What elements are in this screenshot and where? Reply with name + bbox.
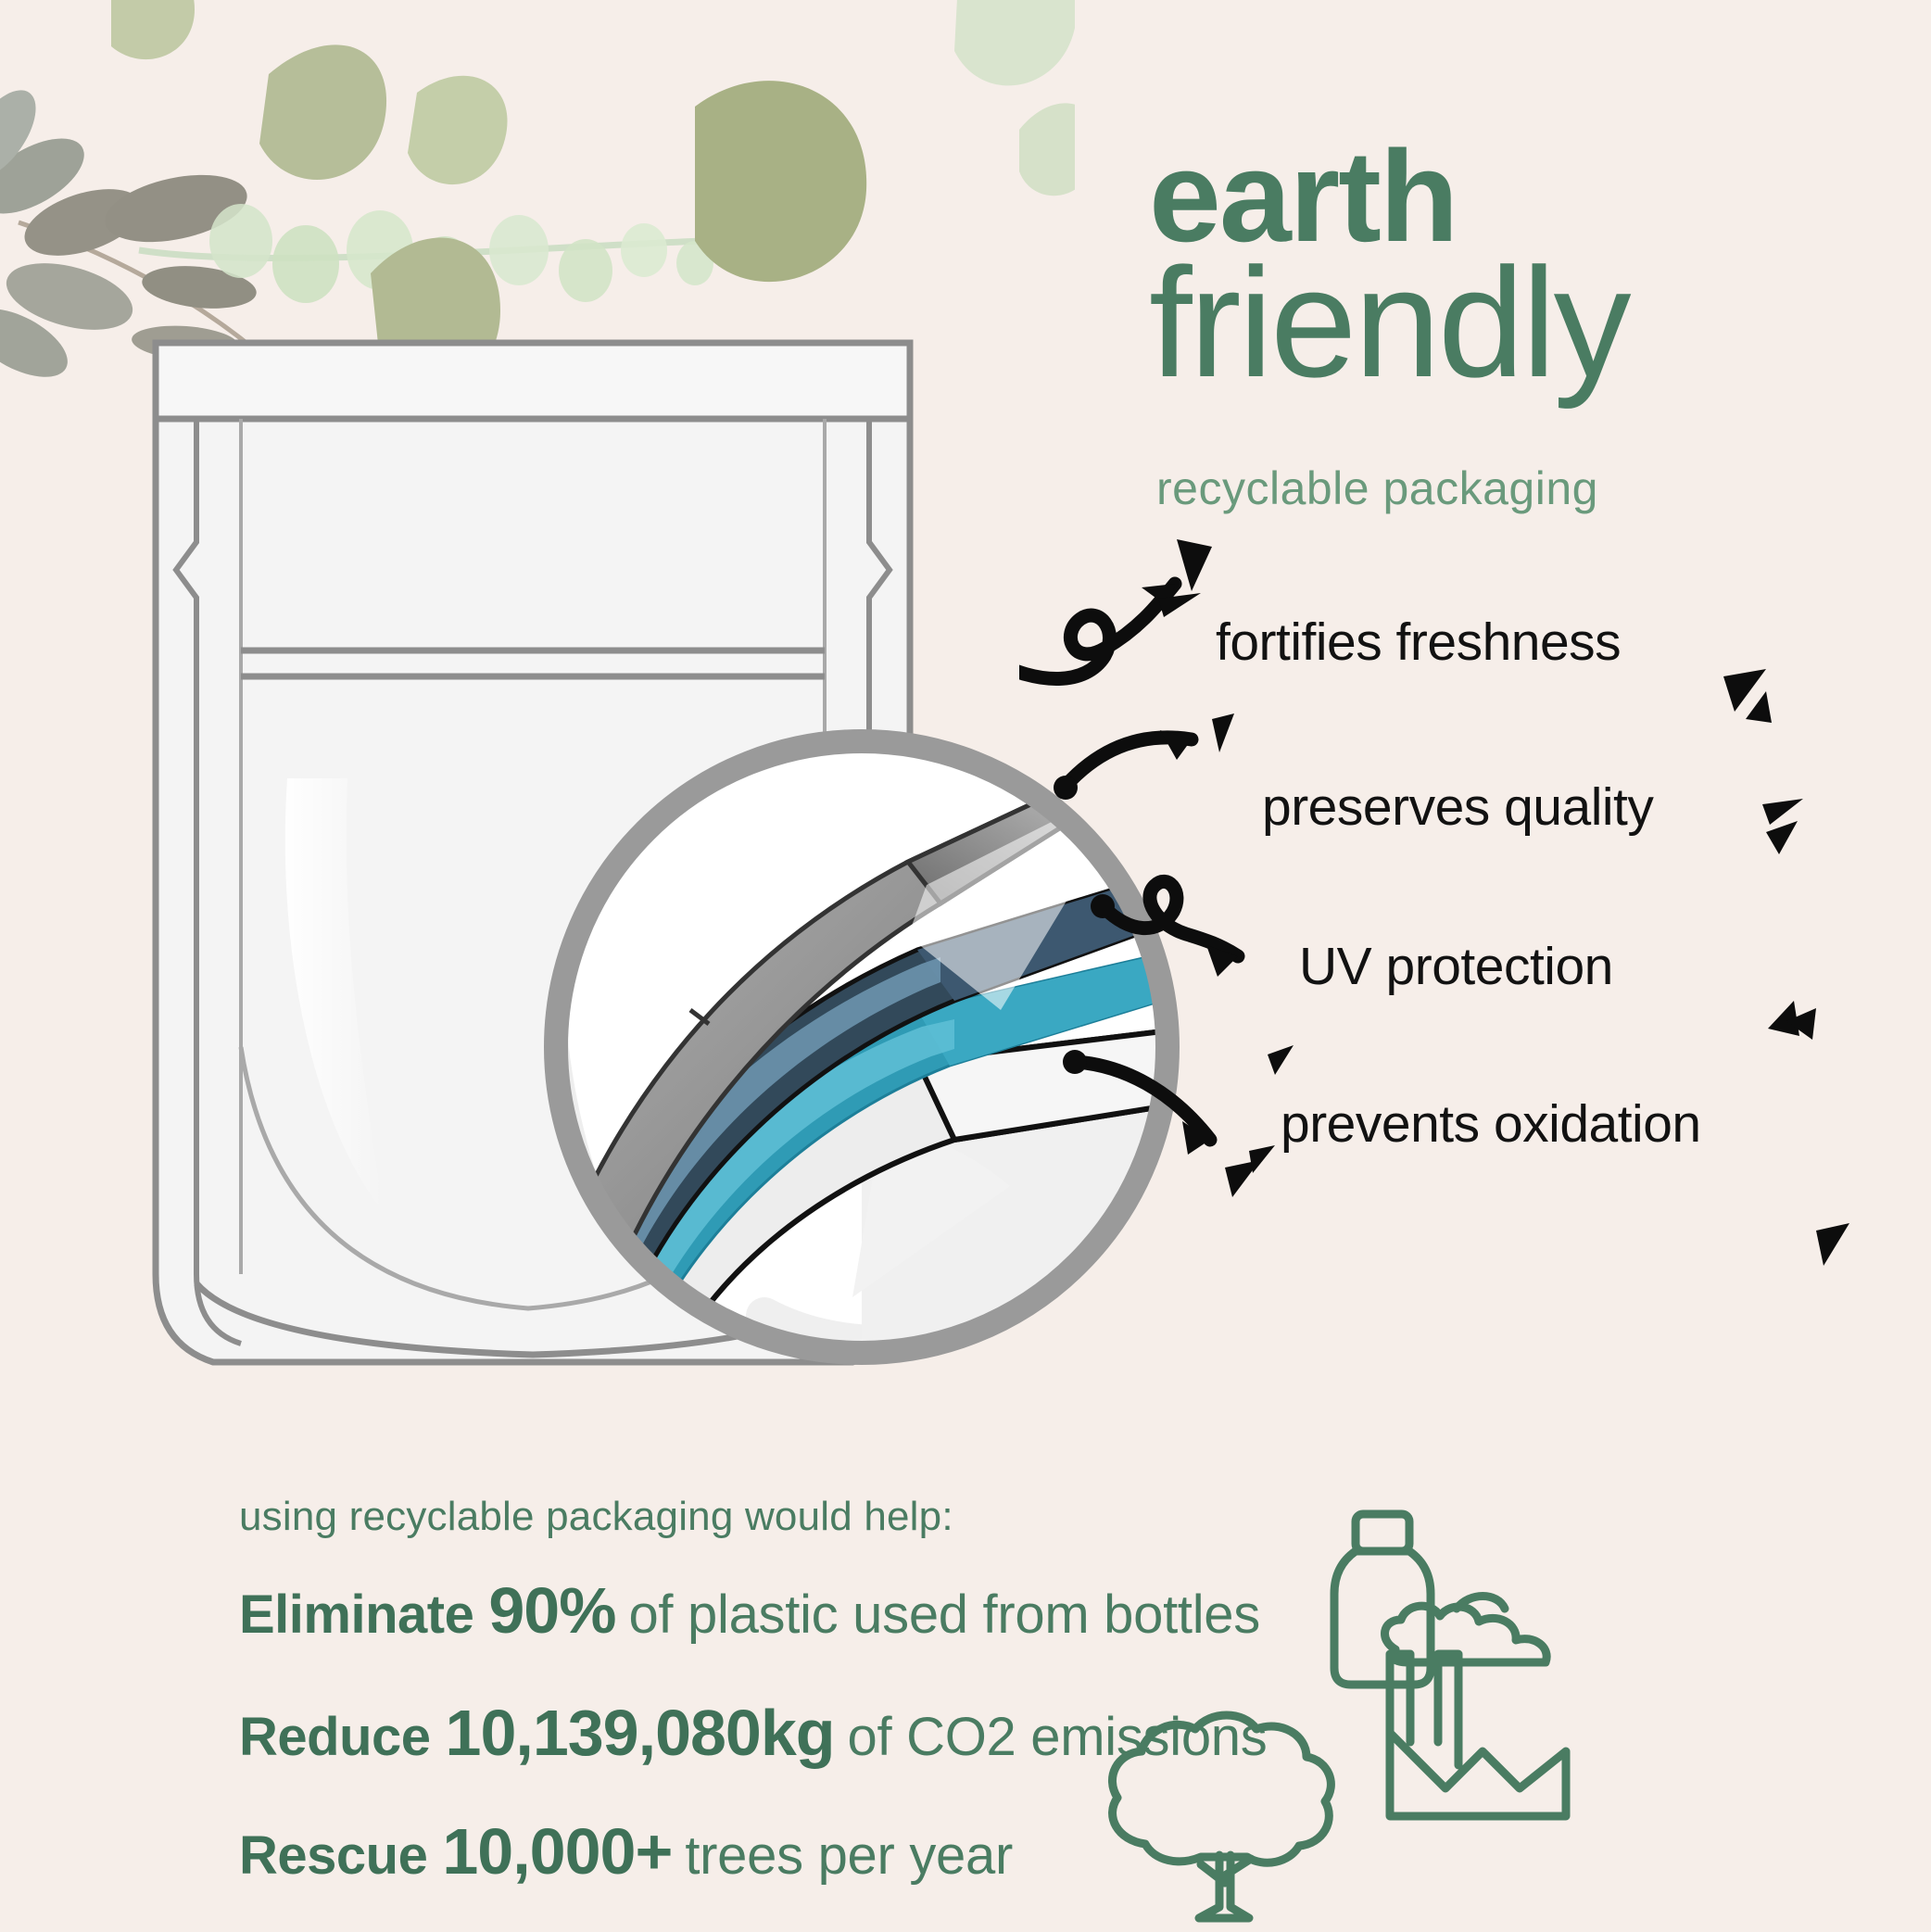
stat-description: of plastic used from bottles xyxy=(628,1584,1259,1646)
feature-label-fortifies-freshness: fortifies freshness xyxy=(1216,612,1621,673)
headline-line-2: friendly xyxy=(1149,251,1909,395)
feature-label-list: fortifies freshness preserves quality UV… xyxy=(1195,612,1918,1223)
stat-row-reduce: Reduce 10,139,080kg of CO2 emissions xyxy=(239,1696,1685,1770)
stat-verb: Eliminate xyxy=(239,1584,473,1646)
stat-description: of CO2 emissions xyxy=(848,1706,1268,1768)
stat-verb: Reduce xyxy=(239,1706,431,1768)
feature-label-prevents-oxidation: prevents oxidation xyxy=(1281,1093,1701,1155)
stat-value: 10,139,080kg xyxy=(446,1696,835,1770)
stats-block: using recyclable packaging would help: E… xyxy=(239,1494,1685,1916)
stat-row-rescue: Rescue 10,000+ trees per year xyxy=(239,1814,1685,1888)
stat-verb: Rescue xyxy=(239,1825,427,1887)
stat-value: 10,000+ xyxy=(442,1814,672,1888)
stat-row-eliminate: Eliminate 90% of plastic used from bottl… xyxy=(239,1573,1685,1648)
layer-cross-section-magnifier xyxy=(519,704,1205,1390)
infographic-canvas: earth friendly recyclable packaging fort… xyxy=(0,0,1931,1932)
stat-value: 90% xyxy=(488,1573,615,1648)
stat-description: trees per year xyxy=(685,1825,1013,1887)
feature-label-uv-protection: UV protection xyxy=(1299,936,1613,997)
stats-intro-text: using recyclable packaging would help: xyxy=(239,1494,1685,1540)
feature-label-preserves-quality: preserves quality xyxy=(1262,777,1653,838)
page-title: earth friendly xyxy=(1149,137,1909,394)
headline-subtitle: recyclable packaging xyxy=(1156,461,1598,515)
